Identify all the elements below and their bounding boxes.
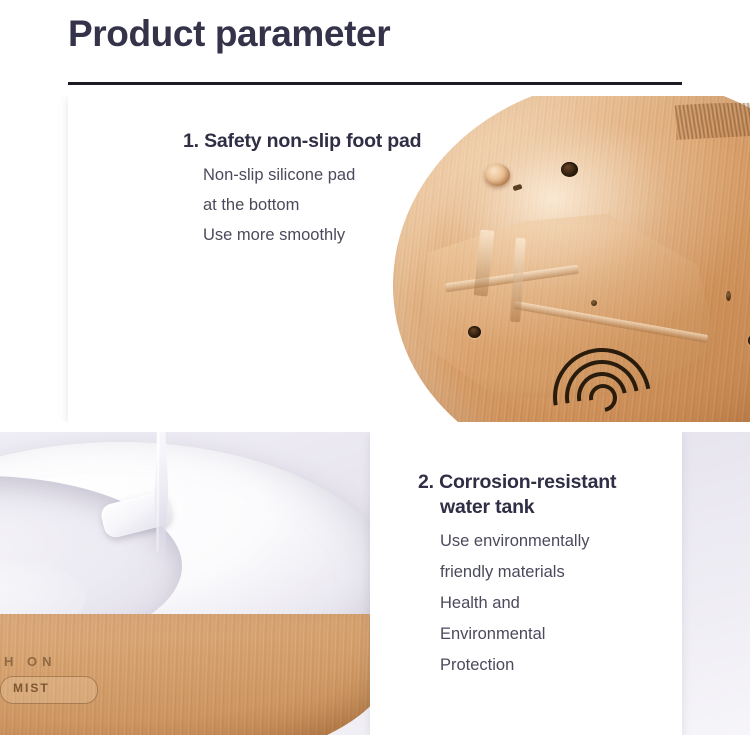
section-2-number: 2. — [418, 471, 434, 493]
wood-base — [0, 614, 390, 735]
section-1-heading: 1. Safety non-slip foot pad — [183, 129, 473, 154]
base-power-label: H ON — [4, 654, 57, 669]
section-1-line-1: Non-slip silicone pad — [203, 160, 473, 190]
screw-hole — [726, 291, 731, 301]
title-divider — [68, 82, 682, 85]
section-2-line-1: Use environmentally — [440, 526, 688, 557]
screw-hole — [561, 162, 578, 177]
section-1-number: 1. — [183, 130, 199, 152]
section-1-heading-text: Safety non-slip foot pad — [204, 130, 421, 152]
section-2-text: 2. Corrosion-resistant water tank Use en… — [418, 470, 688, 681]
section-2-heading: 2. Corrosion-resistant water tank — [418, 470, 688, 520]
section-2-line-4: Environmental — [440, 619, 688, 650]
section-2-line-5: Protection — [440, 650, 688, 681]
dome-rim-detail — [674, 96, 750, 140]
section-2-panel: H ON MIST 2. Corrosion-resistant water t… — [0, 432, 750, 735]
vent-slot — [512, 184, 522, 192]
section-1-panel: 1. Safety non-slip foot pad Non-slip sil… — [0, 96, 750, 422]
product-parameter-page: Product parameter — [0, 0, 750, 750]
section-2-line-2: friendly materials — [440, 557, 688, 588]
base-mist-button[interactable]: MIST — [0, 676, 98, 704]
section-1-line-3: Use more smoothly — [203, 220, 473, 250]
base-mist-label: MIST — [13, 681, 50, 695]
section-2-heading-text: Corrosion-resistant — [439, 471, 616, 493]
section-1-body: Non-slip silicone pad at the bottom Use … — [203, 160, 473, 250]
silicone-foot-pad — [485, 164, 510, 186]
screw-hole — [468, 326, 481, 338]
page-title: Product parameter — [68, 8, 390, 60]
section-1-text: 1. Safety non-slip foot pad Non-slip sil… — [183, 129, 473, 250]
section-1-line-2: at the bottom — [203, 190, 473, 220]
section-1-card: 1. Safety non-slip foot pad Non-slip sil… — [68, 96, 682, 422]
section-2-heading-text-2: water tank — [440, 495, 688, 520]
section-2-body: Use environmentally friendly materials H… — [440, 526, 688, 681]
section-2-line-3: Health and — [440, 588, 688, 619]
screw-hole — [591, 300, 597, 306]
